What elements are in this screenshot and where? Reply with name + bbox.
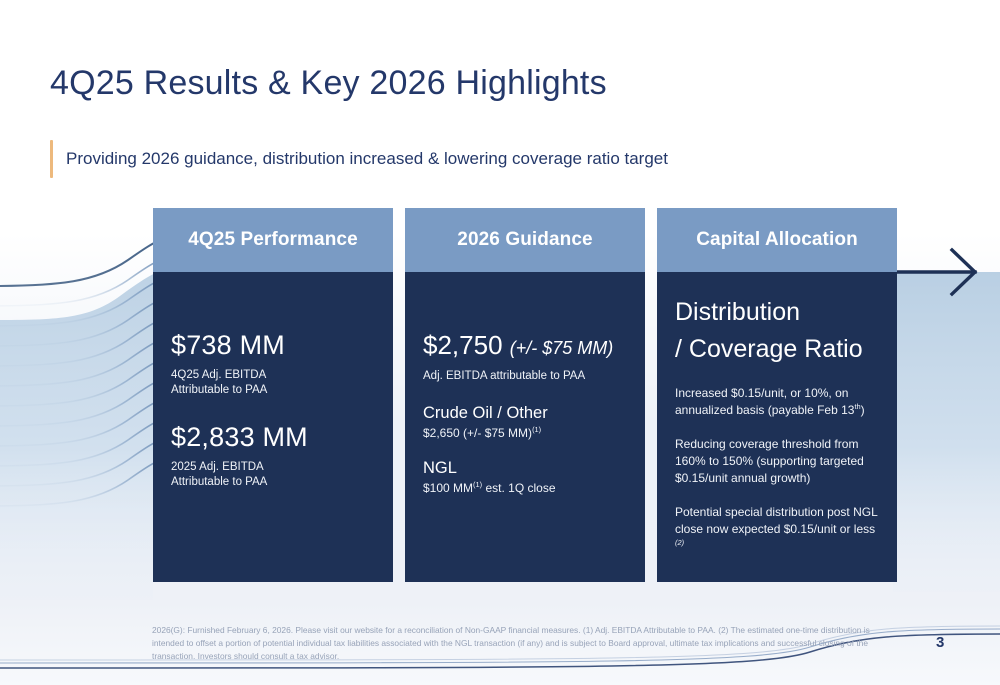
guidance-section-2-suffix: est. 1Q close	[485, 481, 555, 495]
metric-2-value: $2,833 MM	[171, 422, 375, 453]
guidance-section-2-value: $100 MM(1) est. 1Q close	[423, 481, 627, 495]
metric-block-2: $2,833 MM 2025 Adj. EBITDA Attributable …	[171, 398, 375, 490]
guidance-section-2-footnote-marker: (1)	[473, 480, 482, 489]
guidance-section-1-footnote-marker: (1)	[532, 425, 541, 434]
metric-1-label-line2: Attributable to PAA	[171, 384, 267, 396]
guidance-section-2-amount: $100 MM	[423, 481, 473, 495]
guidance-main-note: Adj. EBITDA attributable to PAA	[423, 370, 627, 382]
metric-block-1: $738 MM 4Q25 Adj. EBITDA Attributable to…	[171, 272, 375, 398]
bullet-3-text: Potential special distribution post NGL …	[675, 505, 877, 536]
capital-allocation-heading: Distribution / Coverage Ratio	[675, 272, 879, 368]
capital-allocation-bullet-2: Reducing coverage threshold from 160% to…	[675, 436, 879, 487]
card-body-2026-guidance: $2,750 (+/- $75 MM) Adj. EBITDA attribut…	[405, 272, 645, 582]
accent-bar	[50, 140, 53, 178]
footnote-disclaimer: 2026(G): Furnished February 6, 2026. Ple…	[152, 624, 882, 664]
guidance-section-crude-oil: Crude Oil / Other $2,650 (+/- $75 MM)(1)	[423, 404, 627, 440]
bullet-3-footnote-marker: (2)	[675, 538, 684, 547]
guidance-section-1-amount: $2,650 (+/- $75 MM)	[423, 426, 532, 440]
capital-allocation-heading-line1: Distribution	[675, 298, 800, 326]
guidance-section-2-title: NGL	[423, 459, 627, 478]
capital-allocation-bullet-1: Increased $0.15/unit, or 10%, on annuali…	[675, 385, 879, 419]
card-body-capital-allocation: Distribution / Coverage Ratio Increased …	[657, 272, 897, 582]
guidance-main-value-row: $2,750 (+/- $75 MM)	[423, 272, 627, 361]
card-header-4q25-performance: 4Q25 Performance	[153, 208, 393, 272]
guidance-section-1-title: Crude Oil / Other	[423, 404, 627, 423]
metric-1-label: 4Q25 Adj. EBITDA Attributable to PAA	[171, 368, 375, 398]
right-stripe-group	[893, 272, 1000, 592]
card-2026-guidance: 2026 Guidance $2,750 (+/- $75 MM) Adj. E…	[405, 208, 645, 582]
guidance-main-value: $2,750	[423, 330, 503, 360]
metric-2-label-line2: Attributable to PAA	[171, 476, 267, 488]
capital-allocation-bullet-3: Potential special distribution post NGL …	[675, 504, 879, 555]
guidance-main-range: (+/- $75 MM)	[510, 338, 614, 358]
metric-1-label-line1: 4Q25 Adj. EBITDA	[171, 369, 266, 381]
subtitle-block: Providing 2026 guidance, distribution in…	[50, 140, 668, 178]
page-number: 3	[936, 634, 944, 651]
capital-allocation-heading-line2: / Coverage Ratio	[675, 335, 863, 363]
metric-1-value: $738 MM	[171, 330, 375, 361]
bullet-1-text: Increased $0.15/unit, or 10%, on annuali…	[675, 386, 854, 417]
card-header-2026-guidance: 2026 Guidance	[405, 208, 645, 272]
card-body-4q25-performance: $738 MM 4Q25 Adj. EBITDA Attributable to…	[153, 272, 393, 582]
guidance-section-ngl: NGL $100 MM(1) est. 1Q close	[423, 459, 627, 495]
bullet-1-suffix: )	[861, 403, 865, 417]
page-title: 4Q25 Results & Key 2026 Highlights	[50, 64, 607, 103]
card-row: 4Q25 Performance $738 MM 4Q25 Adj. EBITD…	[153, 208, 897, 582]
guidance-section-1-value: $2,650 (+/- $75 MM)(1)	[423, 426, 627, 440]
metric-2-label-line1: 2025 Adj. EBITDA	[171, 461, 264, 473]
metric-2-label: 2025 Adj. EBITDA Attributable to PAA	[171, 460, 375, 490]
card-header-capital-allocation: Capital Allocation	[657, 208, 897, 272]
page-subtitle: Providing 2026 guidance, distribution in…	[66, 140, 668, 178]
card-4q25-performance: 4Q25 Performance $738 MM 4Q25 Adj. EBITD…	[153, 208, 393, 582]
slide-canvas: 4Q25 Results & Key 2026 Highlights Provi…	[0, 0, 1000, 685]
card-capital-allocation: Capital Allocation Distribution / Covera…	[657, 208, 897, 582]
